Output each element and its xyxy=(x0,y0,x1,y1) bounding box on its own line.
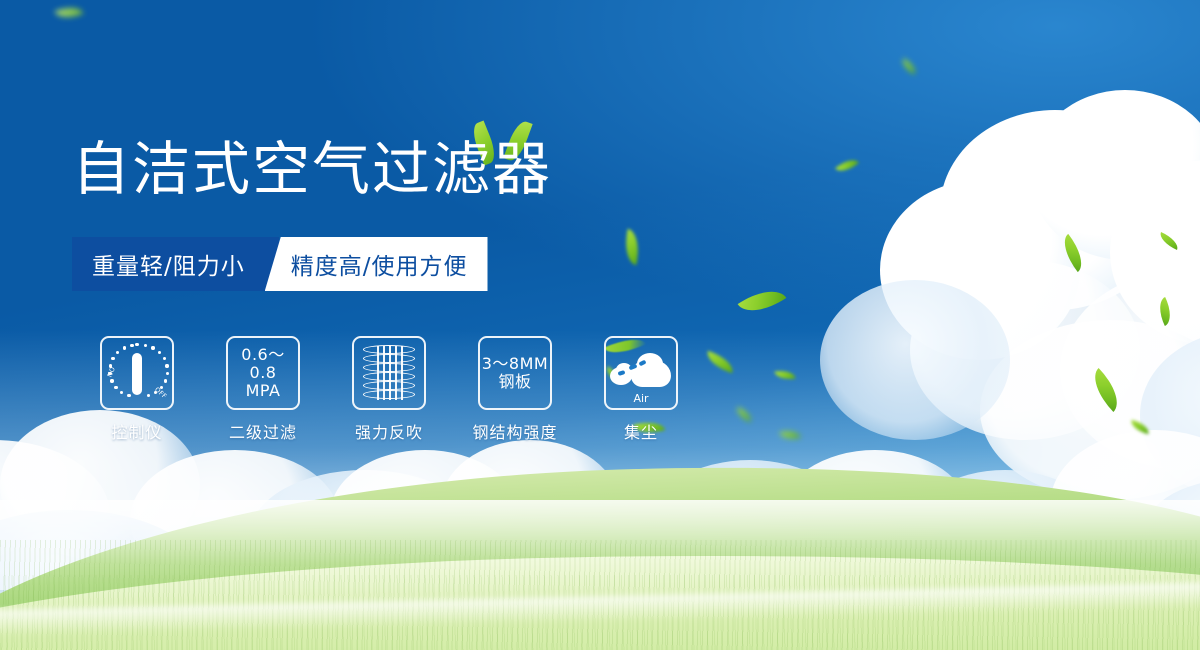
coil-blowback-icon xyxy=(363,344,415,402)
feature-label: 控制仪 xyxy=(111,419,162,443)
pressure-range: 0.6～0.8 xyxy=(228,346,298,382)
feature-icon-box: 3～8MM 钢板 xyxy=(478,336,552,410)
feature-item-pressure[interactable]: 0.6～0.8 MPA 二级过滤 xyxy=(200,336,326,443)
subtitle-segment-right: 精度高/使用方便 xyxy=(265,237,488,291)
grass-field xyxy=(0,0,1200,650)
hero-banner: 自洁式空气过滤器 重量轻/阻力小 精度高/使用方便 xyxy=(0,0,1200,650)
pressure-unit: MPA xyxy=(228,382,298,400)
feature-list: NO OFF 控制仪 0.6～0.8 MPA 二级过滤 xyxy=(74,336,704,443)
gauge-icon: NO OFF xyxy=(105,341,169,405)
feature-icon-box: NO OFF xyxy=(100,336,174,410)
subtitle-segment-left: 重量轻/阻力小 xyxy=(72,237,279,291)
feature-icon-box: Air xyxy=(604,336,678,410)
feature-item-steel[interactable]: 3～8MM 钢板 钢结构强度 xyxy=(452,336,578,443)
feature-label: 集尘 xyxy=(624,419,658,443)
feature-icon-box xyxy=(352,336,426,410)
feature-label: 钢结构强度 xyxy=(472,419,557,443)
feature-label: 强力反吹 xyxy=(355,419,423,443)
air-label: Air xyxy=(609,392,673,405)
steel-material: 钢板 xyxy=(482,373,548,391)
steel-thickness: 3～8MM xyxy=(482,355,548,373)
gauge-label-no: NO xyxy=(106,366,117,379)
gauge-needle xyxy=(132,353,142,395)
feature-item-dust-collection[interactable]: Air 集尘 xyxy=(578,336,704,443)
steel-plate-text-icon: 3～8MM 钢板 xyxy=(482,355,548,391)
feature-label: 二级过滤 xyxy=(229,419,297,443)
title-block: 自洁式空气过滤器 xyxy=(72,140,772,198)
feature-icon-box: 0.6～0.8 MPA xyxy=(226,336,300,410)
air-cloud-icon: Air xyxy=(609,345,673,401)
gauge-label-off: OFF xyxy=(153,386,168,401)
feature-item-control-gauge[interactable]: NO OFF 控制仪 xyxy=(74,336,200,443)
pressure-text-icon: 0.6～0.8 MPA xyxy=(228,346,298,400)
subtitle-bar: 重量轻/阻力小 精度高/使用方便 xyxy=(72,237,488,291)
page-title: 自洁式空气过滤器 xyxy=(72,140,772,198)
feature-item-blowback[interactable]: 强力反吹 xyxy=(326,336,452,443)
